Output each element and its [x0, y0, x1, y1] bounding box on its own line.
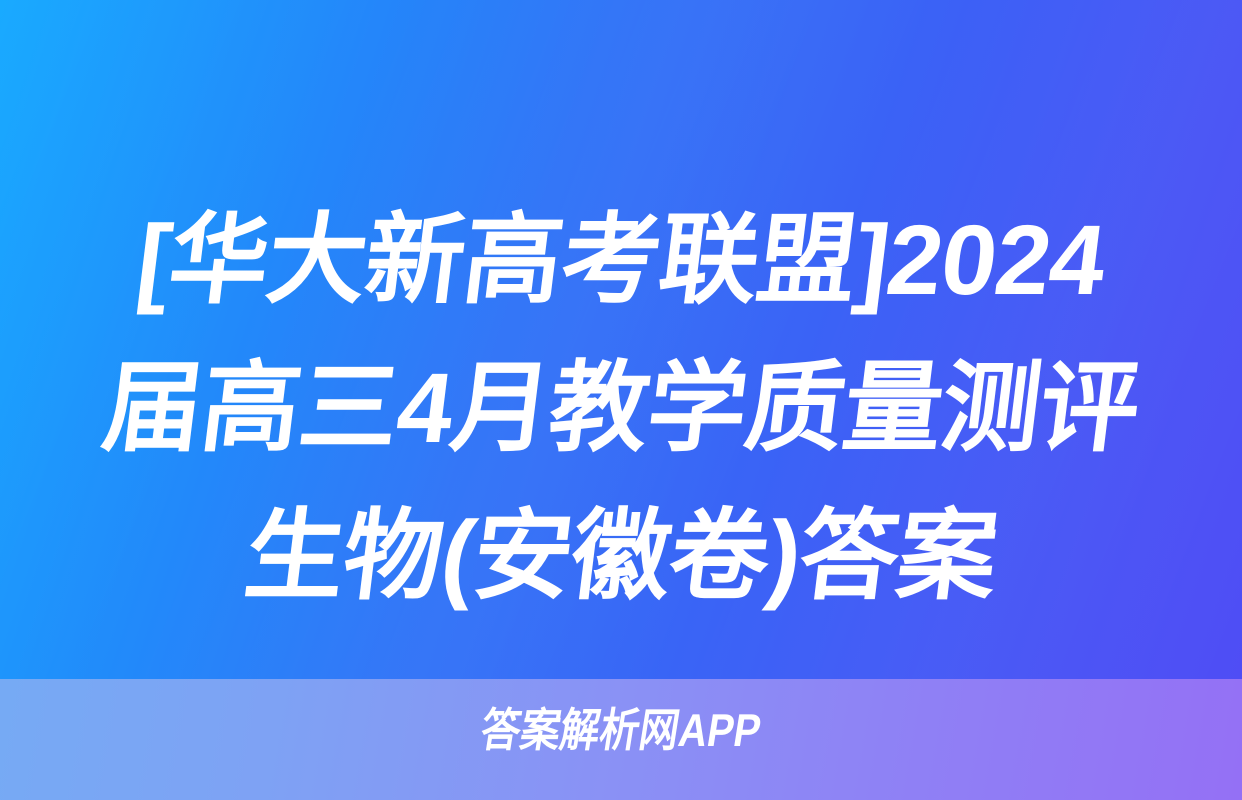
page-title: [华大新高考联盟]2024 届高三4月教学质量测评 生物(安徽卷)答案 — [102, 186, 1140, 630]
title-line-1: [华大新高考联盟]2024 — [93, 186, 1149, 334]
title-line-3: 生物(安徽卷)答案 — [93, 482, 1149, 630]
answer-poster: [华大新高考联盟]2024 届高三4月教学质量测评 生物(安徽卷)答案 答案解析… — [0, 0, 1242, 800]
watermark-brand-label: 答案解析网APP — [83, 702, 1160, 758]
title-line-2: 届高三4月教学质量测评 — [93, 334, 1149, 482]
